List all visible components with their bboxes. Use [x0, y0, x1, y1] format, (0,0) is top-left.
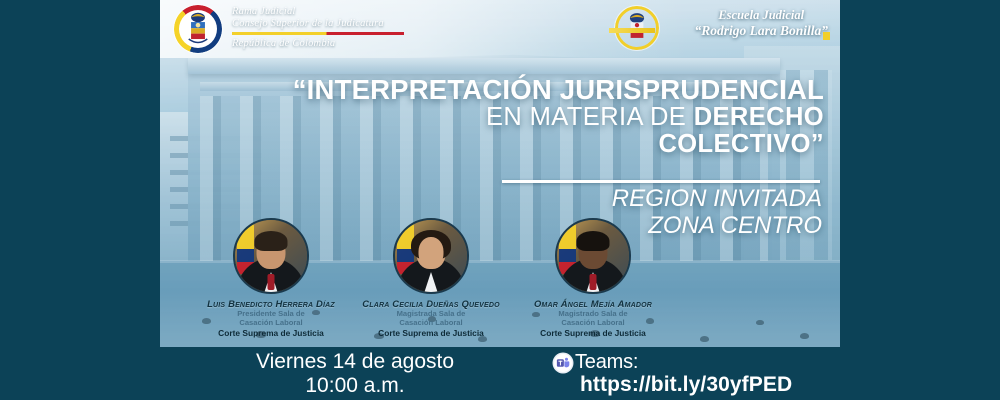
event-date: Viernes 14 de agosto: [160, 350, 550, 374]
speaker-card: Omar Ángel Mejía Amador Magistrado Sala …: [498, 218, 688, 338]
school-accent-rule: [609, 28, 655, 33]
institution-line-1: Rama Judicial: [232, 6, 384, 18]
colombia-judicial-branch-emblem-icon: [174, 5, 222, 53]
school-accent-dot: [823, 32, 830, 40]
event-datetime: Viernes 14 de agosto 10:00 a.m.: [160, 350, 550, 399]
title-line-3: COLECTIVO”: [214, 131, 824, 157]
school-line-1: Escuela Judicial: [694, 8, 828, 23]
speaker-role-line-1: Magistrado Sala de: [498, 309, 688, 318]
speaker-photo-clara-cecilia-duenas-quevedo: [393, 218, 469, 294]
subtitle-line-1: REGION INVITADA: [362, 186, 822, 213]
institution-header-text: Rama Judicial Consejo Superior de la Jud…: [232, 6, 384, 50]
speaker-name: Omar Ángel Mejía Amador: [498, 298, 688, 309]
speaker-organization: Corte Suprema de Justicia: [498, 328, 688, 338]
speaker-role-line-2: Casación Laboral: [498, 318, 688, 327]
event-title: “INTERPRETACIÓN JURISPRUDENCIAL EN MATER…: [214, 76, 824, 157]
platform-label: Teams:: [575, 351, 638, 374]
speaker-photo-luis-benedicto-herrera-diaz: [233, 218, 309, 294]
speaker-photo-omar-angel-mejia-amador: [555, 218, 631, 294]
coat-of-arms-glyph: [182, 11, 214, 47]
microsoft-teams-icon: [554, 354, 572, 372]
event-poster-image: Rama Judicial Consejo Superior de la Jud…: [160, 0, 840, 347]
title-line-2-plain: EN MATERIA DE: [486, 103, 694, 131]
title-line-2-bold: DERECHO: [694, 103, 824, 131]
header-tricolor-rule: [232, 32, 404, 35]
judicial-school-text: Escuela Judicial “Rodrigo Lara Bonilla”: [694, 8, 828, 39]
school-line-2: “Rodrigo Lara Bonilla”: [694, 23, 828, 39]
registration-link[interactable]: https://bit.ly/30yfPED: [550, 373, 850, 397]
title-line-2: EN MATERIA DE DERECHO: [214, 104, 824, 130]
teams-glyph: [556, 356, 570, 370]
footer-bar: Viernes 14 de agosto 10:00 a.m. Teams: h…: [0, 347, 1000, 400]
title-line-1: “INTERPRETACIÓN JURISPRUDENCIAL: [214, 76, 824, 104]
poster-canvas: Rama Judicial Consejo Superior de la Jud…: [0, 0, 1000, 400]
event-platform: Teams: https://bit.ly/30yfPED: [550, 351, 850, 397]
title-divider: [502, 180, 820, 183]
event-time: 10:00 a.m.: [160, 374, 550, 398]
institution-line-2: Consejo Superior de la Judicatura: [232, 18, 384, 30]
institution-line-3: República de Colombia: [232, 38, 384, 50]
